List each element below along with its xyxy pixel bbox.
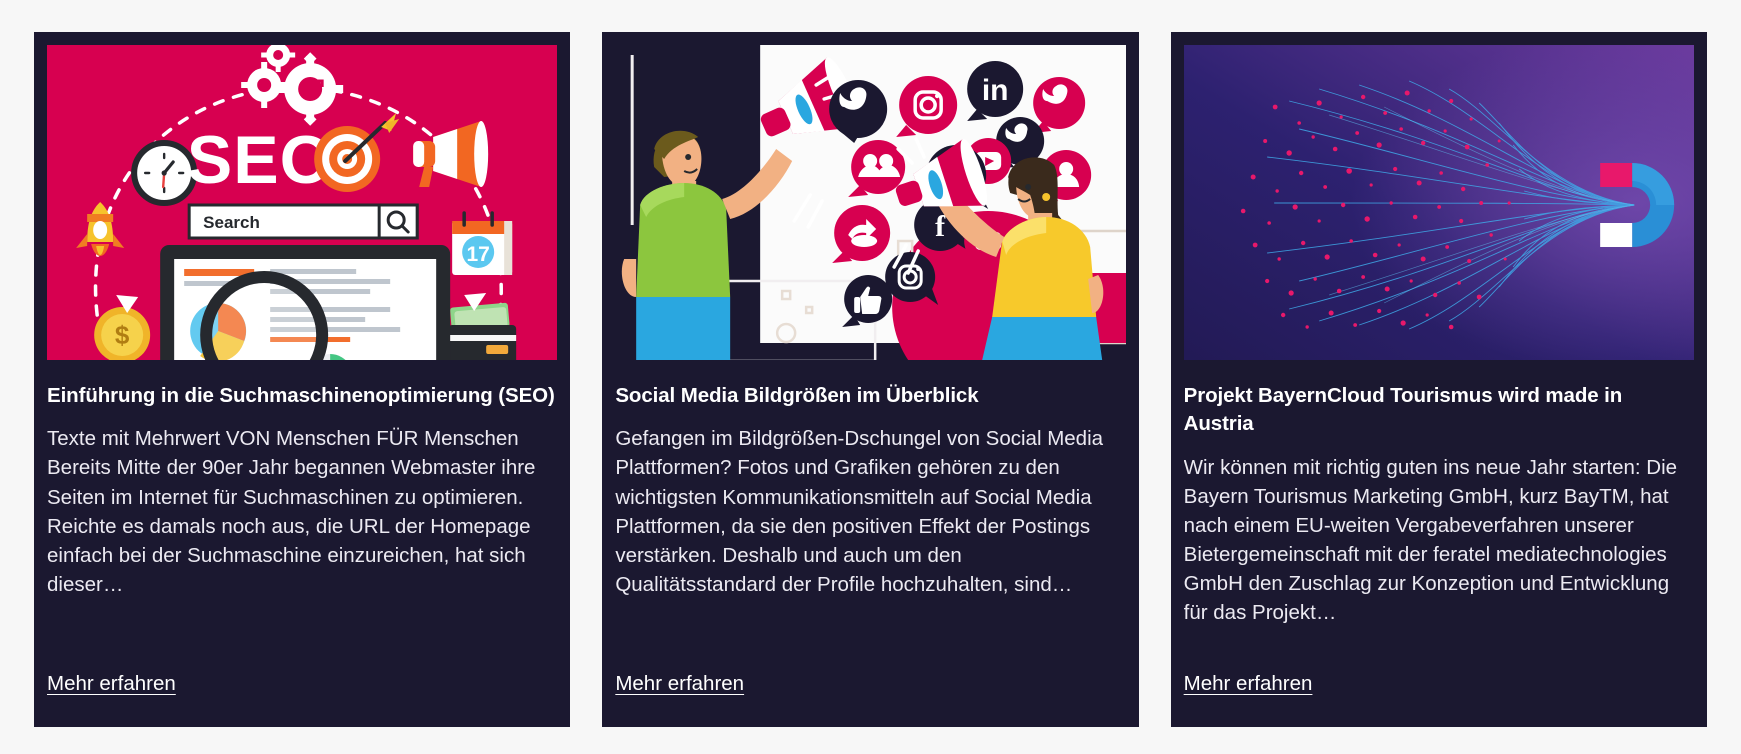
card-excerpt: Texte mit Mehrwert VON Menschen FÜR Mens… [47,424,557,654]
card-title: Social Media Bildgrößen im Überblick [615,382,1125,410]
blog-card-seo[interactable]: $ 17 [34,32,570,727]
card-title: Projekt BayernCloud Tourismus wird made … [1184,382,1694,439]
read-more-link[interactable]: Mehr erfahren [615,670,744,699]
card-image-seo: $ 17 [47,45,557,360]
blog-card-social-media[interactable]: in [602,32,1138,727]
wallet-icon [448,303,516,360]
calendar-icon: 17 [452,213,512,275]
card-image-social-media: in [615,45,1125,360]
blog-card-bayerncloud[interactable]: Projekt BayernCloud Tourismus wird made … [1171,32,1707,727]
svg-text:in: in [982,74,1009,107]
svg-text:Search: Search [203,213,260,232]
clock-icon [134,143,194,203]
card-body: Einführung in die Suchmaschinenoptimieru… [47,360,557,727]
card-image-bayerncloud [1184,45,1694,360]
card-excerpt: Wir können mit richtig guten ins neue Ja… [1184,453,1694,655]
search-bar: Search [189,205,417,238]
svg-text:$: $ [115,320,130,350]
card-body: Projekt BayernCloud Tourismus wird made … [1184,360,1694,727]
social-media-illustration: in [615,45,1125,360]
card-body: Social Media Bildgrößen im Überblick Gef… [615,360,1125,727]
svg-text:17: 17 [466,243,489,266]
read-more-link[interactable]: Mehr erfahren [1184,670,1313,699]
magnet-data-illustration [1184,45,1694,360]
card-title: Einführung in die Suchmaschinenoptimieru… [47,382,557,410]
blog-card-grid: $ 17 [0,0,1741,754]
read-more-link[interactable]: Mehr erfahren [47,670,176,699]
seo-illustration: $ 17 [47,45,557,360]
svg-text:SEO: SEO [187,122,334,198]
card-excerpt: Gefangen im Bildgrößen-Dschungel von Soc… [615,424,1125,654]
